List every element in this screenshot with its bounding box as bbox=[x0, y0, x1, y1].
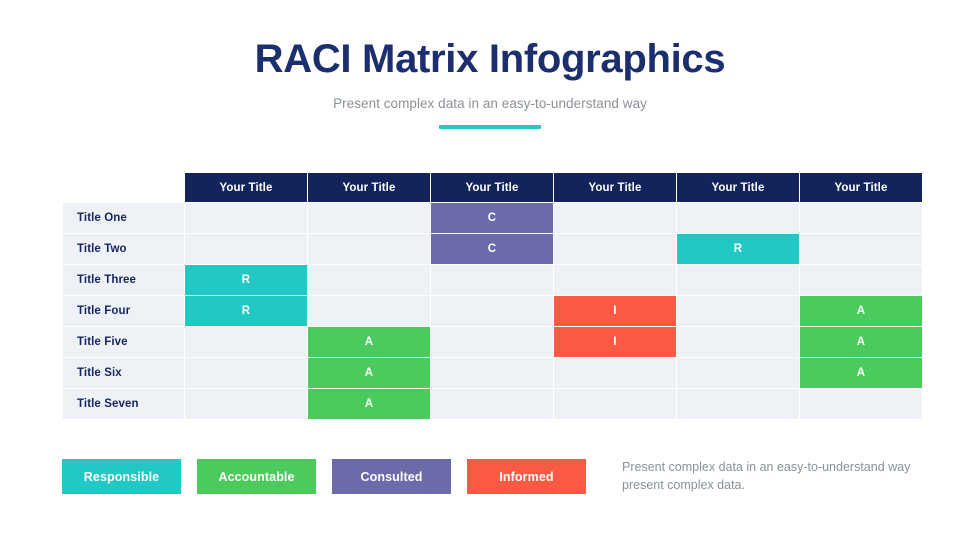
column-header-6[interactable]: Your Title bbox=[800, 173, 922, 202]
cell-r3c1[interactable]: R bbox=[185, 265, 307, 295]
cell-r6c2[interactable]: A bbox=[308, 358, 430, 388]
cell-r3c3[interactable] bbox=[431, 265, 553, 295]
cell-r1c3[interactable]: C bbox=[431, 203, 553, 233]
cell-r5c6[interactable]: A bbox=[800, 327, 922, 357]
cell-r1c2[interactable] bbox=[308, 203, 430, 233]
cell-r5c2[interactable]: A bbox=[308, 327, 430, 357]
legend-label-informed: Informed bbox=[499, 470, 553, 484]
cell-r6c4[interactable] bbox=[554, 358, 676, 388]
row-label-3: Title Three bbox=[63, 265, 184, 295]
table-row: Title Four R I A bbox=[63, 296, 922, 326]
slide-canvas: RACI Matrix Infographics Present complex… bbox=[0, 0, 980, 551]
cell-r2c5[interactable]: R bbox=[677, 234, 799, 264]
column-header-3[interactable]: Your Title bbox=[431, 173, 553, 202]
table-row: Title Three R bbox=[63, 265, 922, 295]
raci-table: Your Title Your Title Your Title Your Ti… bbox=[62, 172, 923, 420]
cell-r6c1[interactable] bbox=[185, 358, 307, 388]
legend-chip-consulted[interactable]: Consulted bbox=[332, 459, 451, 494]
cell-r7c5[interactable] bbox=[677, 389, 799, 419]
table-row: Title Five A I A bbox=[63, 327, 922, 357]
cell-r7c6[interactable] bbox=[800, 389, 922, 419]
row-label-6: Title Six bbox=[63, 358, 184, 388]
page-title: RACI Matrix Infographics bbox=[0, 36, 980, 82]
footnote-text: Present complex data in an easy-to-under… bbox=[622, 459, 912, 495]
cell-r1c1[interactable] bbox=[185, 203, 307, 233]
cell-r6c5[interactable] bbox=[677, 358, 799, 388]
table-header-row: Your Title Your Title Your Title Your Ti… bbox=[63, 173, 922, 202]
table-body: Title One C Title Two C R bbox=[63, 203, 922, 419]
cell-r3c4[interactable] bbox=[554, 265, 676, 295]
cell-r3c2[interactable] bbox=[308, 265, 430, 295]
accent-underline bbox=[439, 125, 541, 129]
cell-r5c5[interactable] bbox=[677, 327, 799, 357]
legend-label-consulted: Consulted bbox=[360, 470, 422, 484]
cell-r2c4[interactable] bbox=[554, 234, 676, 264]
cell-r2c2[interactable] bbox=[308, 234, 430, 264]
cell-r5c3[interactable] bbox=[431, 327, 553, 357]
cell-r1c5[interactable] bbox=[677, 203, 799, 233]
legend-label-accountable: Accountable bbox=[218, 470, 294, 484]
cell-r1c4[interactable] bbox=[554, 203, 676, 233]
cell-r2c6[interactable] bbox=[800, 234, 922, 264]
cell-r4c1[interactable]: R bbox=[185, 296, 307, 326]
column-header-1[interactable]: Your Title bbox=[185, 173, 307, 202]
cell-r7c3[interactable] bbox=[431, 389, 553, 419]
row-label-4: Title Four bbox=[63, 296, 184, 326]
cell-r6c6[interactable]: A bbox=[800, 358, 922, 388]
legend-chip-responsible[interactable]: Responsible bbox=[62, 459, 181, 494]
table-head: Your Title Your Title Your Title Your Ti… bbox=[63, 173, 922, 202]
column-header-4[interactable]: Your Title bbox=[554, 173, 676, 202]
row-label-1: Title One bbox=[63, 203, 184, 233]
legend-chip-informed[interactable]: Informed bbox=[467, 459, 586, 494]
legend-label-responsible: Responsible bbox=[84, 470, 159, 484]
cell-r7c1[interactable] bbox=[185, 389, 307, 419]
cell-r5c1[interactable] bbox=[185, 327, 307, 357]
cell-r4c5[interactable] bbox=[677, 296, 799, 326]
cell-r4c4[interactable]: I bbox=[554, 296, 676, 326]
table-row: Title Seven A bbox=[63, 389, 922, 419]
column-header-5[interactable]: Your Title bbox=[677, 173, 799, 202]
column-header-2[interactable]: Your Title bbox=[308, 173, 430, 202]
cell-r3c6[interactable] bbox=[800, 265, 922, 295]
cell-r2c1[interactable] bbox=[185, 234, 307, 264]
table-corner-cell bbox=[63, 173, 184, 202]
table-row: Title Six A A bbox=[63, 358, 922, 388]
table-row: Title Two C R bbox=[63, 234, 922, 264]
legend: Responsible Accountable Consulted Inform… bbox=[62, 459, 586, 494]
cell-r6c3[interactable] bbox=[431, 358, 553, 388]
cell-r7c2[interactable]: A bbox=[308, 389, 430, 419]
table-row: Title One C bbox=[63, 203, 922, 233]
cell-r3c5[interactable] bbox=[677, 265, 799, 295]
cell-r4c2[interactable] bbox=[308, 296, 430, 326]
row-label-5: Title Five bbox=[63, 327, 184, 357]
row-label-2: Title Two bbox=[63, 234, 184, 264]
cell-r2c3[interactable]: C bbox=[431, 234, 553, 264]
raci-matrix: Your Title Your Title Your Title Your Ti… bbox=[62, 172, 918, 420]
cell-r4c3[interactable] bbox=[431, 296, 553, 326]
cell-r1c6[interactable] bbox=[800, 203, 922, 233]
cell-r7c4[interactable] bbox=[554, 389, 676, 419]
cell-r5c4[interactable]: I bbox=[554, 327, 676, 357]
slide-header: RACI Matrix Infographics Present complex… bbox=[0, 36, 980, 129]
legend-chip-accountable[interactable]: Accountable bbox=[197, 459, 316, 494]
page-subtitle: Present complex data in an easy-to-under… bbox=[0, 96, 980, 111]
row-label-7: Title Seven bbox=[63, 389, 184, 419]
cell-r4c6[interactable]: A bbox=[800, 296, 922, 326]
